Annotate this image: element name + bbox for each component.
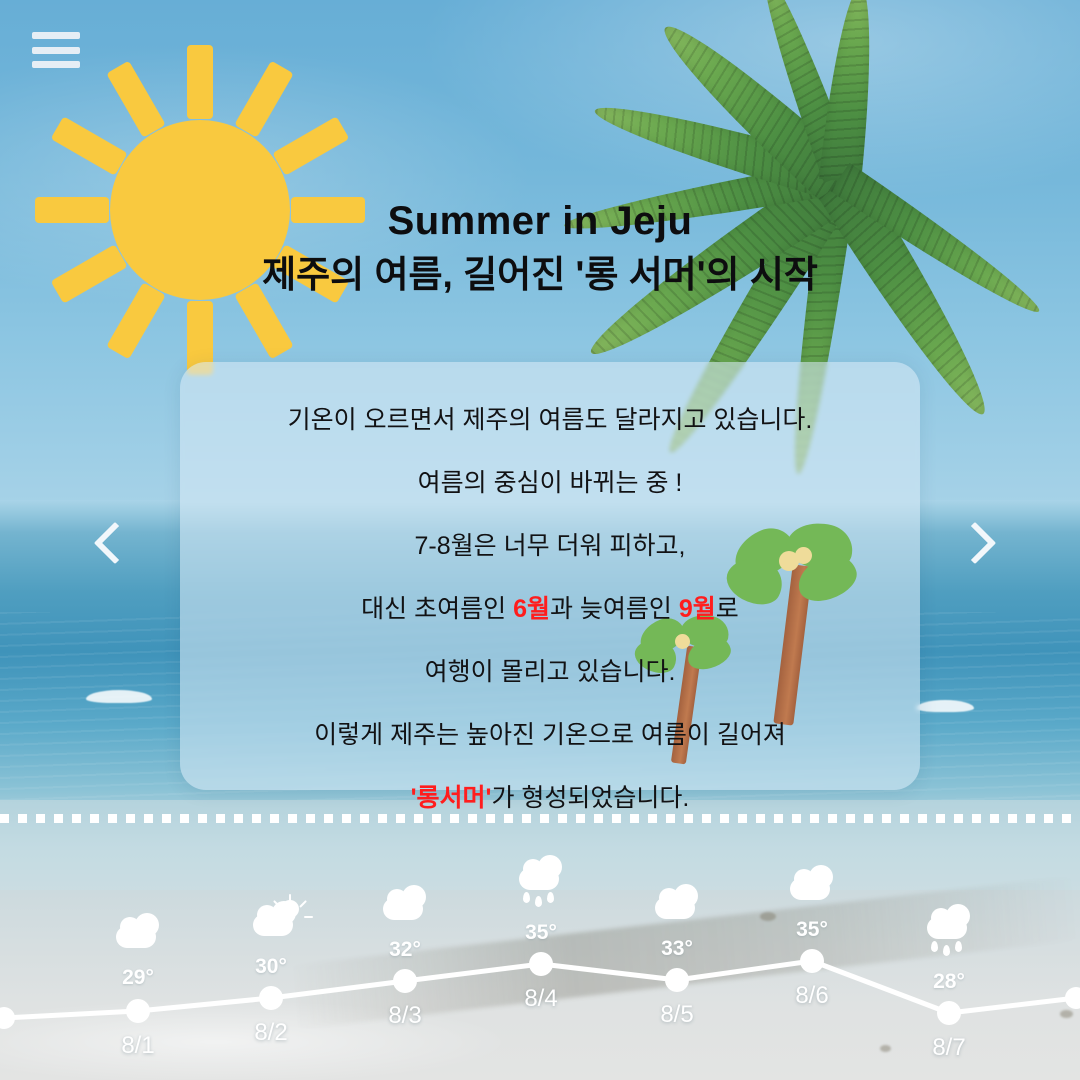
text-run: 과 늦여름인 [550,595,679,623]
chart-data-point[interactable] [393,969,417,993]
sun-ray [234,61,294,138]
rain-icon [515,860,567,902]
hamburger-bar [32,61,80,68]
rain-icon [923,909,975,951]
background-boat [916,700,974,712]
highlighted-term: 9월 [679,595,716,623]
chart-date-label: 8/4 [524,985,557,1013]
sun-ray [304,916,313,918]
sun-ray [289,894,291,903]
chevron-right-icon [954,522,996,564]
cloud-icon [112,918,164,960]
card-text-block: 기온이 오르면서 제주의 여름도 달라지고 있습니다.여름의 중심이 바뀌는 중… [180,392,920,833]
cloud-shape [655,897,695,919]
cloud-shape [790,878,830,900]
chevron-left-icon [94,522,136,564]
cloud-shape [383,898,423,920]
partly-sunny-icon [249,906,301,948]
chart-temp-label: 35° [525,921,557,945]
chart-temp-label: 28° [933,970,965,994]
carousel-next-button[interactable] [952,515,1004,567]
card-text-line: 대신 초여름인 6월과 늦여름인 9월로 [180,581,920,637]
text-run: 이렇게 제주는 높아진 기온으로 여름이 길어져 [314,721,786,749]
page-title: Summer in Jeju 제주의 여름, 길어진 '롱 서머'의 시작 [0,196,1080,300]
cloud-icon [651,889,703,931]
sun-ray [272,116,349,176]
text-run: 여행이 몰리고 있습니다. [425,658,676,686]
cloud-shape [116,926,156,948]
cloud-icon [379,890,431,932]
hamburger-bar [32,32,80,39]
chart-data-point[interactable] [529,952,553,976]
chart-data-point[interactable] [126,999,150,1023]
card-text-line: 여행이 몰리고 있습니다. [180,644,920,700]
text-run: 로 [716,595,739,623]
description-card: 기온이 오르면서 제주의 여름도 달라지고 있습니다.여름의 중심이 바뀌는 중… [180,362,920,790]
chart-edge-point [1065,987,1080,1009]
title-korean: 제주의 여름, 길어진 '롱 서머'의 시작 [0,250,1080,300]
chart-edge-point [0,1007,15,1029]
chart-temp-label: 30° [255,955,287,979]
sun-ray [267,916,276,918]
rain-drop [523,892,530,903]
chart-temp-label: 32° [389,938,421,962]
background-boat [86,690,152,703]
card-text-line: 7-8월은 너무 더워 피하고, [180,518,920,574]
chart-temp-label: 29° [122,966,154,990]
dashed-divider [0,814,1080,823]
hamburger-bar [32,47,80,54]
carousel-prev-button[interactable] [84,515,136,567]
card-text-line: 기온이 오르면서 제주의 여름도 달라지고 있습니다. [180,392,920,448]
hamburger-menu-icon[interactable] [32,32,80,68]
sun-ray [51,116,128,176]
text-run: 여름의 중심이 바뀌는 중 ! [418,469,683,497]
text-run: 7-8월은 너무 더워 피하고, [415,532,686,560]
chart-date-label: 8/6 [795,982,828,1010]
chart-data-point[interactable] [259,986,283,1010]
text-run: 가 형성되었습니다. [491,784,689,812]
text-run: 기온이 오르면서 제주의 여름도 달라지고 있습니다. [288,406,813,434]
chart-date-label: 8/3 [388,1002,421,1030]
rain-drop [547,892,554,903]
highlighted-term: 6월 [513,595,550,623]
chart-date-label: 8/1 [121,1032,154,1060]
sun-ray [187,45,213,119]
cloud-shape [519,868,559,890]
chart-date-label: 8/7 [932,1034,965,1062]
chart-temp-label: 35° [796,918,828,942]
card-text-line: 여름의 중심이 바뀌는 중 ! [180,455,920,511]
chart-data-point[interactable] [937,1001,961,1025]
chart-date-label: 8/5 [660,1001,693,1029]
rain-drop [535,896,542,907]
chart-data-point[interactable] [800,949,824,973]
card-text-line: 이렇게 제주는 높아진 기온으로 여름이 길어져 [180,707,920,763]
weather-line-chart: 29°30°32°35°33°35°28°8/18/28/38/48/58/68… [0,830,1080,1080]
rain-drop [943,945,950,956]
cloud-shape [927,917,967,939]
title-english: Summer in Jeju [0,196,1080,246]
text-run: 대신 초여름인 [361,595,513,623]
rain-drop [931,941,938,952]
chart-data-point[interactable] [665,968,689,992]
highlighted-term: '롱서머' [411,784,492,812]
chart-temp-label: 33° [661,937,693,961]
sun-ray [106,61,166,138]
cloud-icon [786,870,838,912]
slide-canvas: Summer in Jeju 제주의 여름, 길어진 '롱 서머'의 시작 기온… [0,0,1080,1080]
chart-date-label: 8/2 [254,1019,287,1047]
rain-drop [955,941,962,952]
